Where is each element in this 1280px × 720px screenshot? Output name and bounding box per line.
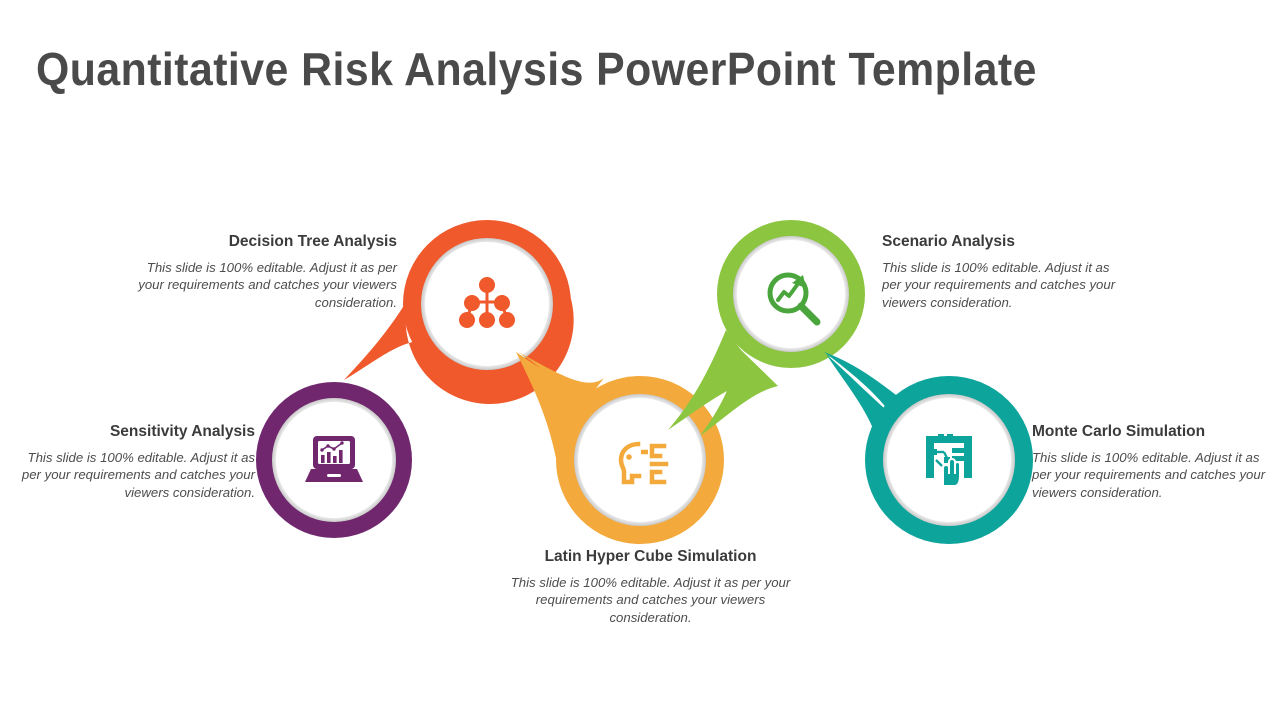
node-body-sensitivity-analysis: This slide is 100% editable. Adjust it a… [5,449,255,502]
node-label-monte-carlo-simulation: Monte Carlo Simulation [1032,423,1280,442]
node-body-latin-hyper-cube-simulation: This slide is 100% editable. Adjust it a… [508,574,793,627]
text-block-scenario-analysis: Scenario Analysis This slide is 100% edi… [882,233,1132,311]
text-block-latin-hyper-cube-simulation: Latin Hyper Cube Simulation This slide i… [508,548,793,626]
slide-canvas: Quantitative Risk Analysis PowerPoint Te… [0,0,1280,720]
node-body-scenario-analysis: This slide is 100% editable. Adjust it a… [882,259,1132,312]
laptop-chart-icon [298,424,370,496]
head-profile-icon [606,428,678,500]
text-block-monte-carlo-simulation: Monte Carlo Simulation This slide is 100… [1032,423,1280,501]
node-body-monte-carlo-simulation: This slide is 100% editable. Adjust it a… [1032,449,1280,502]
decision-tree-icon [451,268,523,340]
node-label-sensitivity-analysis: Sensitivity Analysis [5,423,255,442]
node-label-scenario-analysis: Scenario Analysis [882,233,1132,252]
magnifier-growth-icon [758,262,830,334]
page-title: Quantitative Risk Analysis PowerPoint Te… [36,44,1106,95]
text-block-decision-tree-analysis: Decision Tree Analysis This slide is 100… [132,233,397,311]
node-label-latin-hyper-cube-simulation: Latin Hyper Cube Simulation [508,548,793,567]
node-body-decision-tree-analysis: This slide is 100% editable. Adjust it a… [132,259,397,312]
node-label-decision-tree-analysis: Decision Tree Analysis [132,233,397,252]
hand-dashboard-icon [913,424,985,496]
text-block-sensitivity-analysis: Sensitivity Analysis This slide is 100% … [5,423,255,501]
